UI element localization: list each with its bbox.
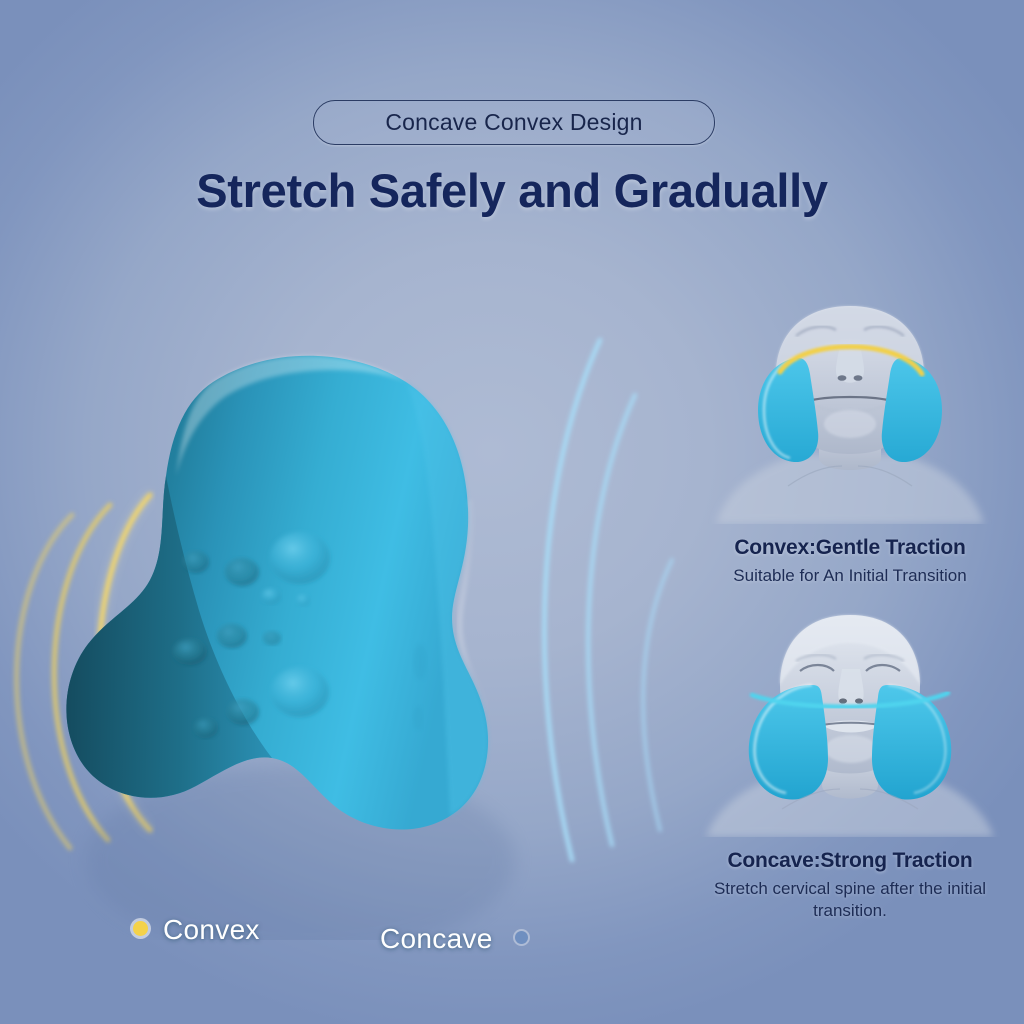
figure-concave-traction — [676, 609, 1024, 837]
page-title: Stretch Safely and Gradually — [0, 163, 1024, 218]
head-convex-traction-illustration — [676, 296, 1024, 524]
caption-concave-title: Concave:Strong Traction — [676, 849, 1024, 873]
caption-convex: Convex:Gentle Traction Suitable for An I… — [676, 536, 1024, 587]
caption-concave: Concave:Strong Traction Stretch cervical… — [676, 849, 1024, 922]
product-scene-svg — [0, 300, 680, 940]
blue-wave-arcs — [544, 340, 672, 860]
convex-marker-dot — [133, 921, 148, 936]
caption-concave-subtitle: Stretch cervical spine after the initial… — [676, 878, 1024, 922]
product-label-convex: Convex — [163, 914, 260, 946]
traction-modes-panel: Convex:Gentle Traction Suitable for An I… — [676, 296, 1024, 936]
head-concave-traction-illustration — [676, 609, 1024, 837]
product-illustration: Convex Concave — [0, 300, 680, 940]
product-label-concave: Concave — [380, 923, 493, 955]
caption-convex-title: Convex:Gentle Traction — [676, 536, 1024, 560]
infographic-canvas: Concave Convex Design Stretch Safely and… — [0, 0, 1024, 1024]
figure-convex-traction — [676, 296, 1024, 524]
badge-concave-convex-design: Concave Convex Design — [313, 100, 715, 145]
concave-marker-dot — [515, 931, 528, 944]
caption-convex-subtitle: Suitable for An Initial Transition — [676, 565, 1024, 587]
badge-label: Concave Convex Design — [385, 109, 642, 136]
